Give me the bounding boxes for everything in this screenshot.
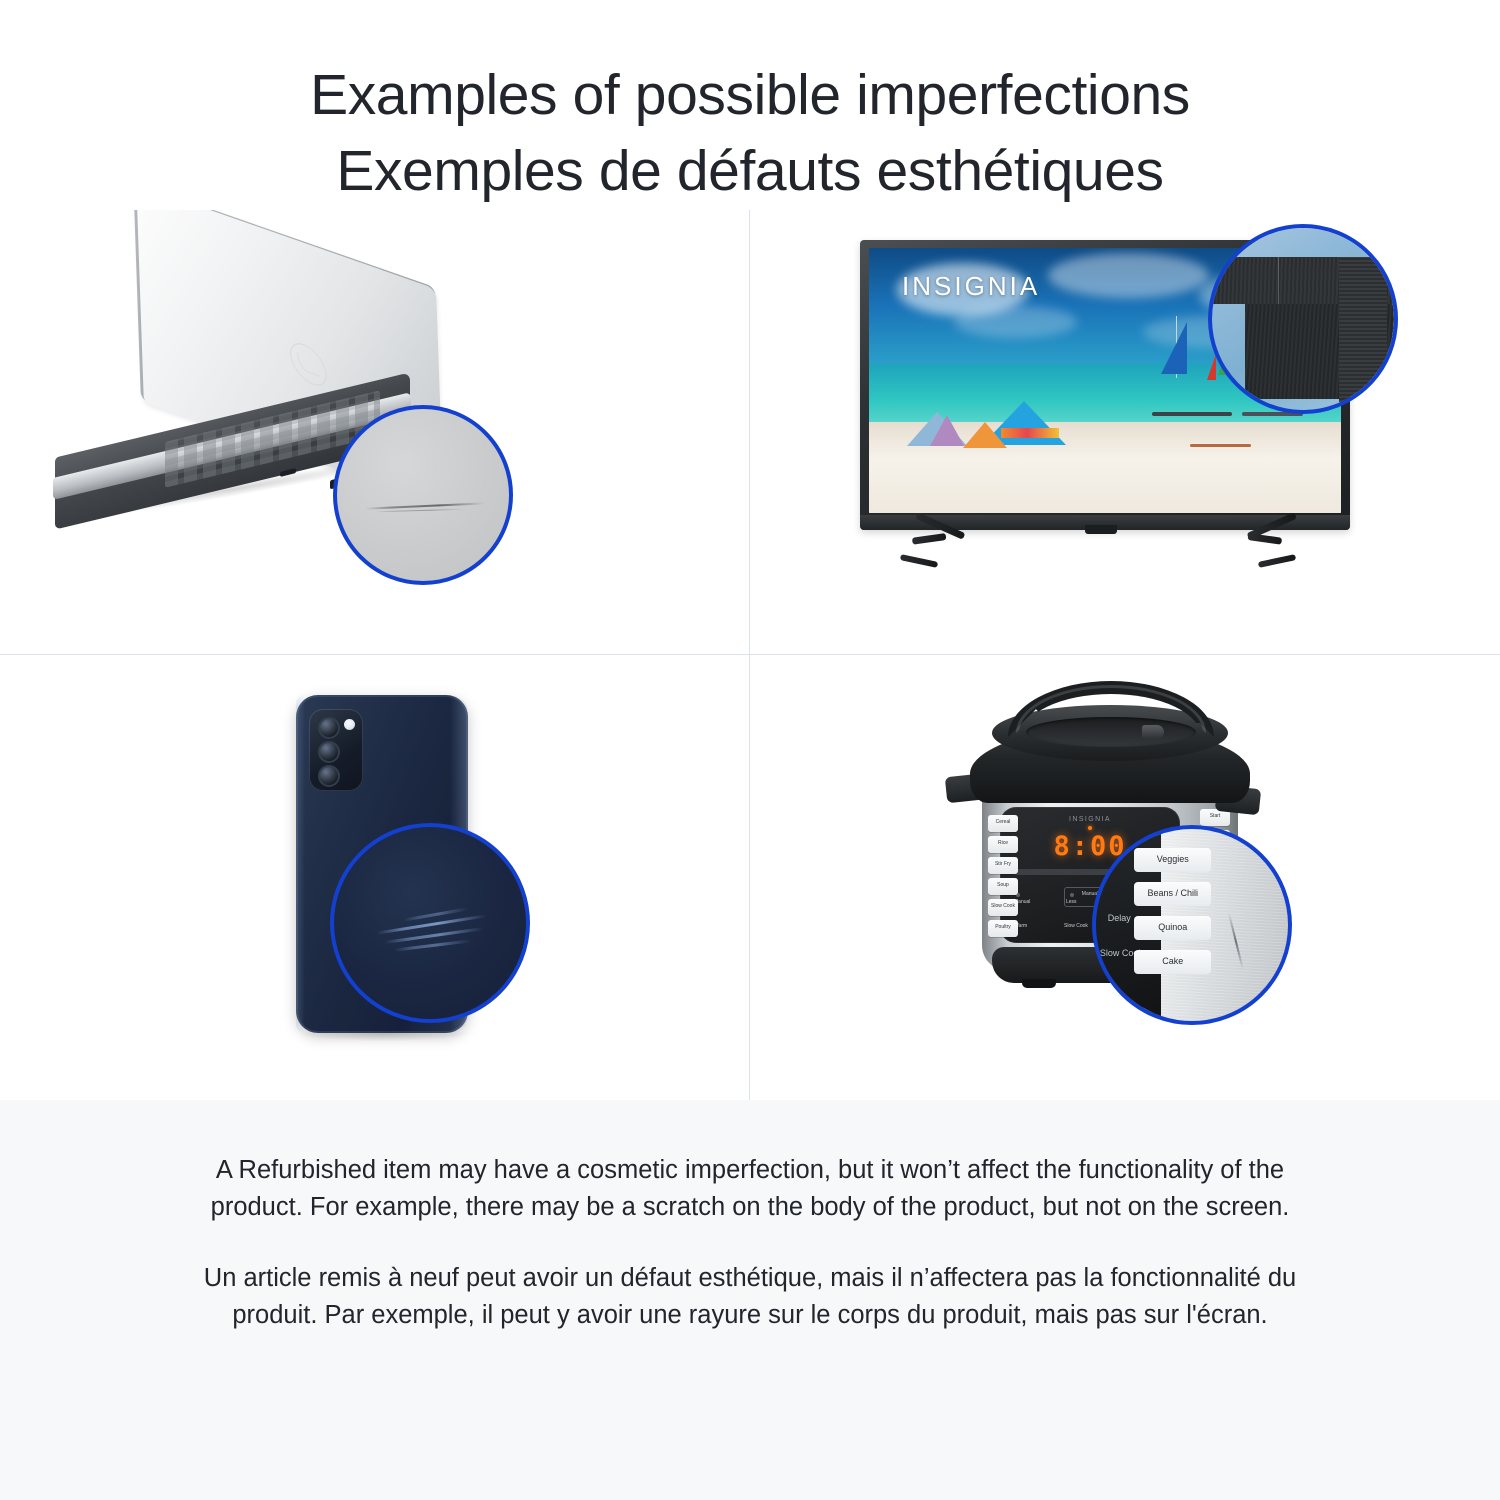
cloud-shape [954,306,1077,338]
magnified-label-delay: Delay [1108,913,1131,923]
tv-leg-right [1248,533,1283,545]
cloud-shape [1048,253,1208,298]
scratch-mark-secondary [375,509,464,512]
cooker-button[interactable]: Stir Fry [988,857,1018,874]
magnified-button-column[interactable]: Veggies Beans / Chili Quinoa Cake [1134,848,1211,984]
cooker-button[interactable]: Rice [988,836,1018,853]
magnified-label-veggies[interactable]: Veggies [1134,848,1211,872]
boat-hull [1152,412,1232,416]
cooker-label-less: Less [1066,899,1077,905]
cooker-status-led [1088,826,1092,830]
tv-foot-right [1258,554,1296,568]
camera-lens-icon [318,741,340,763]
description-english: A Refurbished item may have a cosmetic i… [185,1152,1315,1226]
sail-blue [1157,322,1187,374]
laptop-illustration [45,230,515,530]
tv-ir-sensor [1085,525,1117,534]
beach-tent [963,422,1007,448]
panel-pressure-cooker: INSIGNIA 8:00 Manual Manual Less Delay W… [750,655,1500,1100]
magnifier-circle-pressure-cooker: Delay Slow Cook Veggies Beans / Chili Qu… [1092,825,1292,1025]
smartphone-illustration [0,655,750,1100]
beached-boat [1190,444,1251,447]
tv-screen-logo: INSIGNIA [902,271,1040,302]
dell-logo-icon [286,338,331,391]
scratch-mark [365,502,485,509]
tv-foot-left [900,554,938,568]
description-french: Un article remis à neuf peut avoir un dé… [185,1260,1315,1334]
camera-lens-icon [318,717,340,739]
cooker-indicator-led [1070,893,1074,897]
pressure-cooker-illustration: INSIGNIA 8:00 Manual Manual Less Delay W… [930,669,1330,1029]
cooker-button[interactable]: Soup [988,878,1018,895]
examples-grid: INSIGNIA [0,210,1500,1100]
cooker-button[interactable]: Slow Cook [988,899,1018,916]
page-title: Examples of possible imperfections Exemp… [0,0,1500,210]
magnifier-content-television [1212,228,1394,410]
magnified-button-beans-chili[interactable]: Beans / Chili [1134,882,1211,906]
cooker-label-slow-cook: Slow Cook [1064,923,1088,929]
magnified-button-quinoa[interactable]: Quinoa [1134,916,1211,940]
cooker-button-column-left[interactable]: Cereal Rice Stir Fry Soup Slow Cook Poul… [988,815,1018,941]
grid-divider-horizontal [0,654,1500,655]
panel-television: INSIGNIA [750,210,1500,655]
magnifier-circle-laptop [333,405,513,585]
magnifier-circle-television [1208,224,1398,414]
panel-smartphone [0,655,750,1100]
television-illustration: INSIGNIA [860,240,1420,600]
footer-description: A Refurbished item may have a cosmetic i… [0,1100,1500,1500]
cooker-handle-highlight [1016,685,1206,733]
camera-lens-icon [318,765,340,787]
camera-flash-icon [344,719,355,730]
phone-edge-highlight-left [296,695,305,1033]
magnifier-circle-smartphone [330,823,530,1023]
tv-bezel-seam [1278,257,1279,304]
panel-laptop [0,210,750,655]
cooker-brand-label: INSIGNIA [1069,816,1111,823]
magnified-button-cake[interactable]: Cake [1134,950,1211,974]
tv-bezel-side-edge [1339,257,1386,403]
title-line-french: Exemples de défauts esthétiques [0,134,1500,210]
beach-tent [930,415,964,446]
beach-tent-stripe [1001,428,1059,438]
grid-divider-vertical [749,210,750,1100]
page-root: Examples of possible imperfections Exemp… [0,0,1500,1500]
cooker-foot-left [1022,979,1056,988]
title-line-english: Examples of possible imperfections [0,58,1500,134]
tv-leg-left [912,533,947,545]
cooker-button[interactable]: Poultry [988,920,1018,937]
sail-red [1204,354,1216,380]
camera-module [309,709,363,791]
cooker-button[interactable]: Cereal [988,815,1018,832]
